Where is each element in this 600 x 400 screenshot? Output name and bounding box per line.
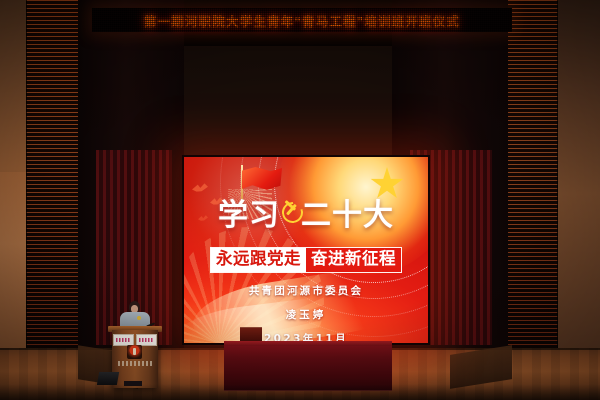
- credit-speaker-name: 凌玉婷: [184, 307, 428, 322]
- screen-headline: 学习 二十大: [184, 201, 428, 231]
- panel-seam-left-outer: [26, 0, 27, 352]
- speaker-badge: [137, 316, 141, 320]
- right-wooden-slat-panel: [508, 0, 558, 352]
- left-plaster-wall-lit: [0, 172, 26, 352]
- red-flag-icon: [236, 167, 282, 201]
- slogan-red-box: 奋进新征程: [306, 248, 401, 272]
- left-wooden-slat-panel: [26, 0, 78, 352]
- podium-institution-text: [118, 361, 152, 366]
- screen-credits: 共青团河源市委员会 凌玉婷 2023年11月: [184, 283, 428, 343]
- led-banner-text: 第一期河职院大学生青年“青马工程”培训班开班仪式: [144, 11, 460, 30]
- credit-organization: 共青团河源市委员会: [184, 283, 428, 298]
- led-header-banner: 第一期河职院大学生青年“青马工程”培训班开班仪式: [92, 8, 512, 32]
- headline-right-text: 二十大: [301, 202, 394, 231]
- podium-logo-inner: [133, 348, 136, 355]
- slogan-white-box: 永远跟党走: [211, 248, 306, 272]
- auditorium-scene: 第一期河职院大学生青年“青马工程”培训班开班仪式 学习: [0, 0, 600, 400]
- stage-riser-top: [224, 341, 392, 346]
- front-shadow: [0, 384, 600, 400]
- panel-seam-right: [557, 0, 558, 352]
- right-plaster-wall: [558, 0, 600, 352]
- slogan-wrapper: 永远跟党走 奋进新征程: [210, 247, 402, 273]
- headline-left-text: 学习: [218, 202, 280, 231]
- led-screen: 学习 二十大 永远跟党走 奋进新征程 共青团河源市委员会 凌玉婷 2023年11…: [184, 157, 428, 343]
- screen-slogan-bar: 永远跟党走 奋进新征程: [184, 247, 428, 273]
- hammer-and-sickle-icon: [281, 201, 300, 220]
